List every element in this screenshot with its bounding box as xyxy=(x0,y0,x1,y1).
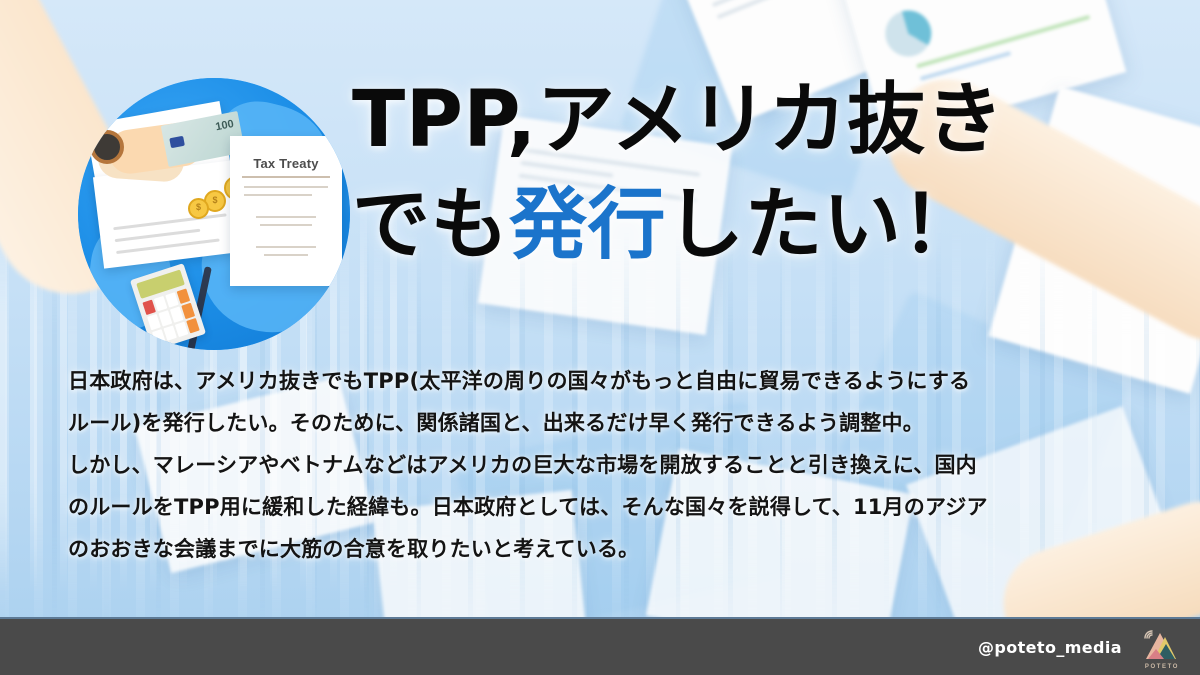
tax-treaty-globe-illustration: 100 $ $ $ Tax Treaty xyxy=(78,78,350,350)
news-card: 100 $ $ $ Tax Treaty xyxy=(0,0,1200,675)
banknote-chip xyxy=(169,136,185,148)
calculator-key xyxy=(181,303,195,319)
logo-wordmark: POTETO xyxy=(1140,664,1184,670)
wristwatch-icon xyxy=(90,130,124,164)
document-line xyxy=(244,186,328,188)
headline: TPP,アメリカ抜き でも発行したい！ xyxy=(352,68,1052,277)
calculator-key xyxy=(186,318,200,334)
document-line xyxy=(116,238,220,254)
document-line xyxy=(113,213,227,230)
body-line: しかし、マレーシアやベトナムなどはアメリカの巨大な市場を開放することと引き換えに… xyxy=(68,444,1148,486)
body-line: のルールをTPP用に緩和した経緯も。日本政府としては、そんな国々を説得して、11… xyxy=(68,486,1148,528)
body-text: 日本政府は、アメリカ抜きでもTPP(太平洋の周りの国々がもっと自由に貿易できるよ… xyxy=(68,360,1148,570)
document-line xyxy=(115,229,201,242)
footer-bar: @poteto_media POTETO xyxy=(0,617,1200,675)
document-line xyxy=(260,224,312,226)
coin-icon: $ xyxy=(188,198,209,219)
body-line: のおおきな会議までに大筋の合意を取りたいと考えている。 xyxy=(68,528,1148,570)
document-line xyxy=(264,254,308,256)
document-rule xyxy=(242,176,330,178)
document-line xyxy=(256,246,316,248)
poteto-logo: POTETO xyxy=(1140,625,1184,669)
paper-line xyxy=(916,15,1090,68)
tax-treaty-label: Tax Treaty xyxy=(230,156,342,171)
headline-line-2-post: したい！ xyxy=(666,180,980,270)
pie-chart-icon xyxy=(880,5,937,62)
tax-treaty-document: Tax Treaty xyxy=(230,136,342,286)
document-line xyxy=(244,194,312,196)
document-line xyxy=(256,216,316,218)
body-line: ルール)を発行したい。そのために、関係諸国と、出来るだけ早く発行できるよう調整中… xyxy=(68,402,1148,444)
body-line: 日本政府は、アメリカ抜きでもTPP(太平洋の周りの国々がもっと自由に貿易できるよ… xyxy=(68,360,1148,402)
logo-triangle-pink xyxy=(1148,649,1164,659)
calculator-key xyxy=(177,288,191,304)
headline-line-2-pre: でも xyxy=(352,180,509,270)
calculator-keys xyxy=(142,288,199,344)
social-handle: @poteto_media xyxy=(978,638,1122,657)
banknote-value: 100 xyxy=(215,118,235,133)
headline-line-1: TPP,アメリカ抜き xyxy=(352,68,1052,173)
headline-highlight: 発行 xyxy=(509,180,666,270)
headline-line-2: でも発行したい！ xyxy=(352,173,1052,278)
